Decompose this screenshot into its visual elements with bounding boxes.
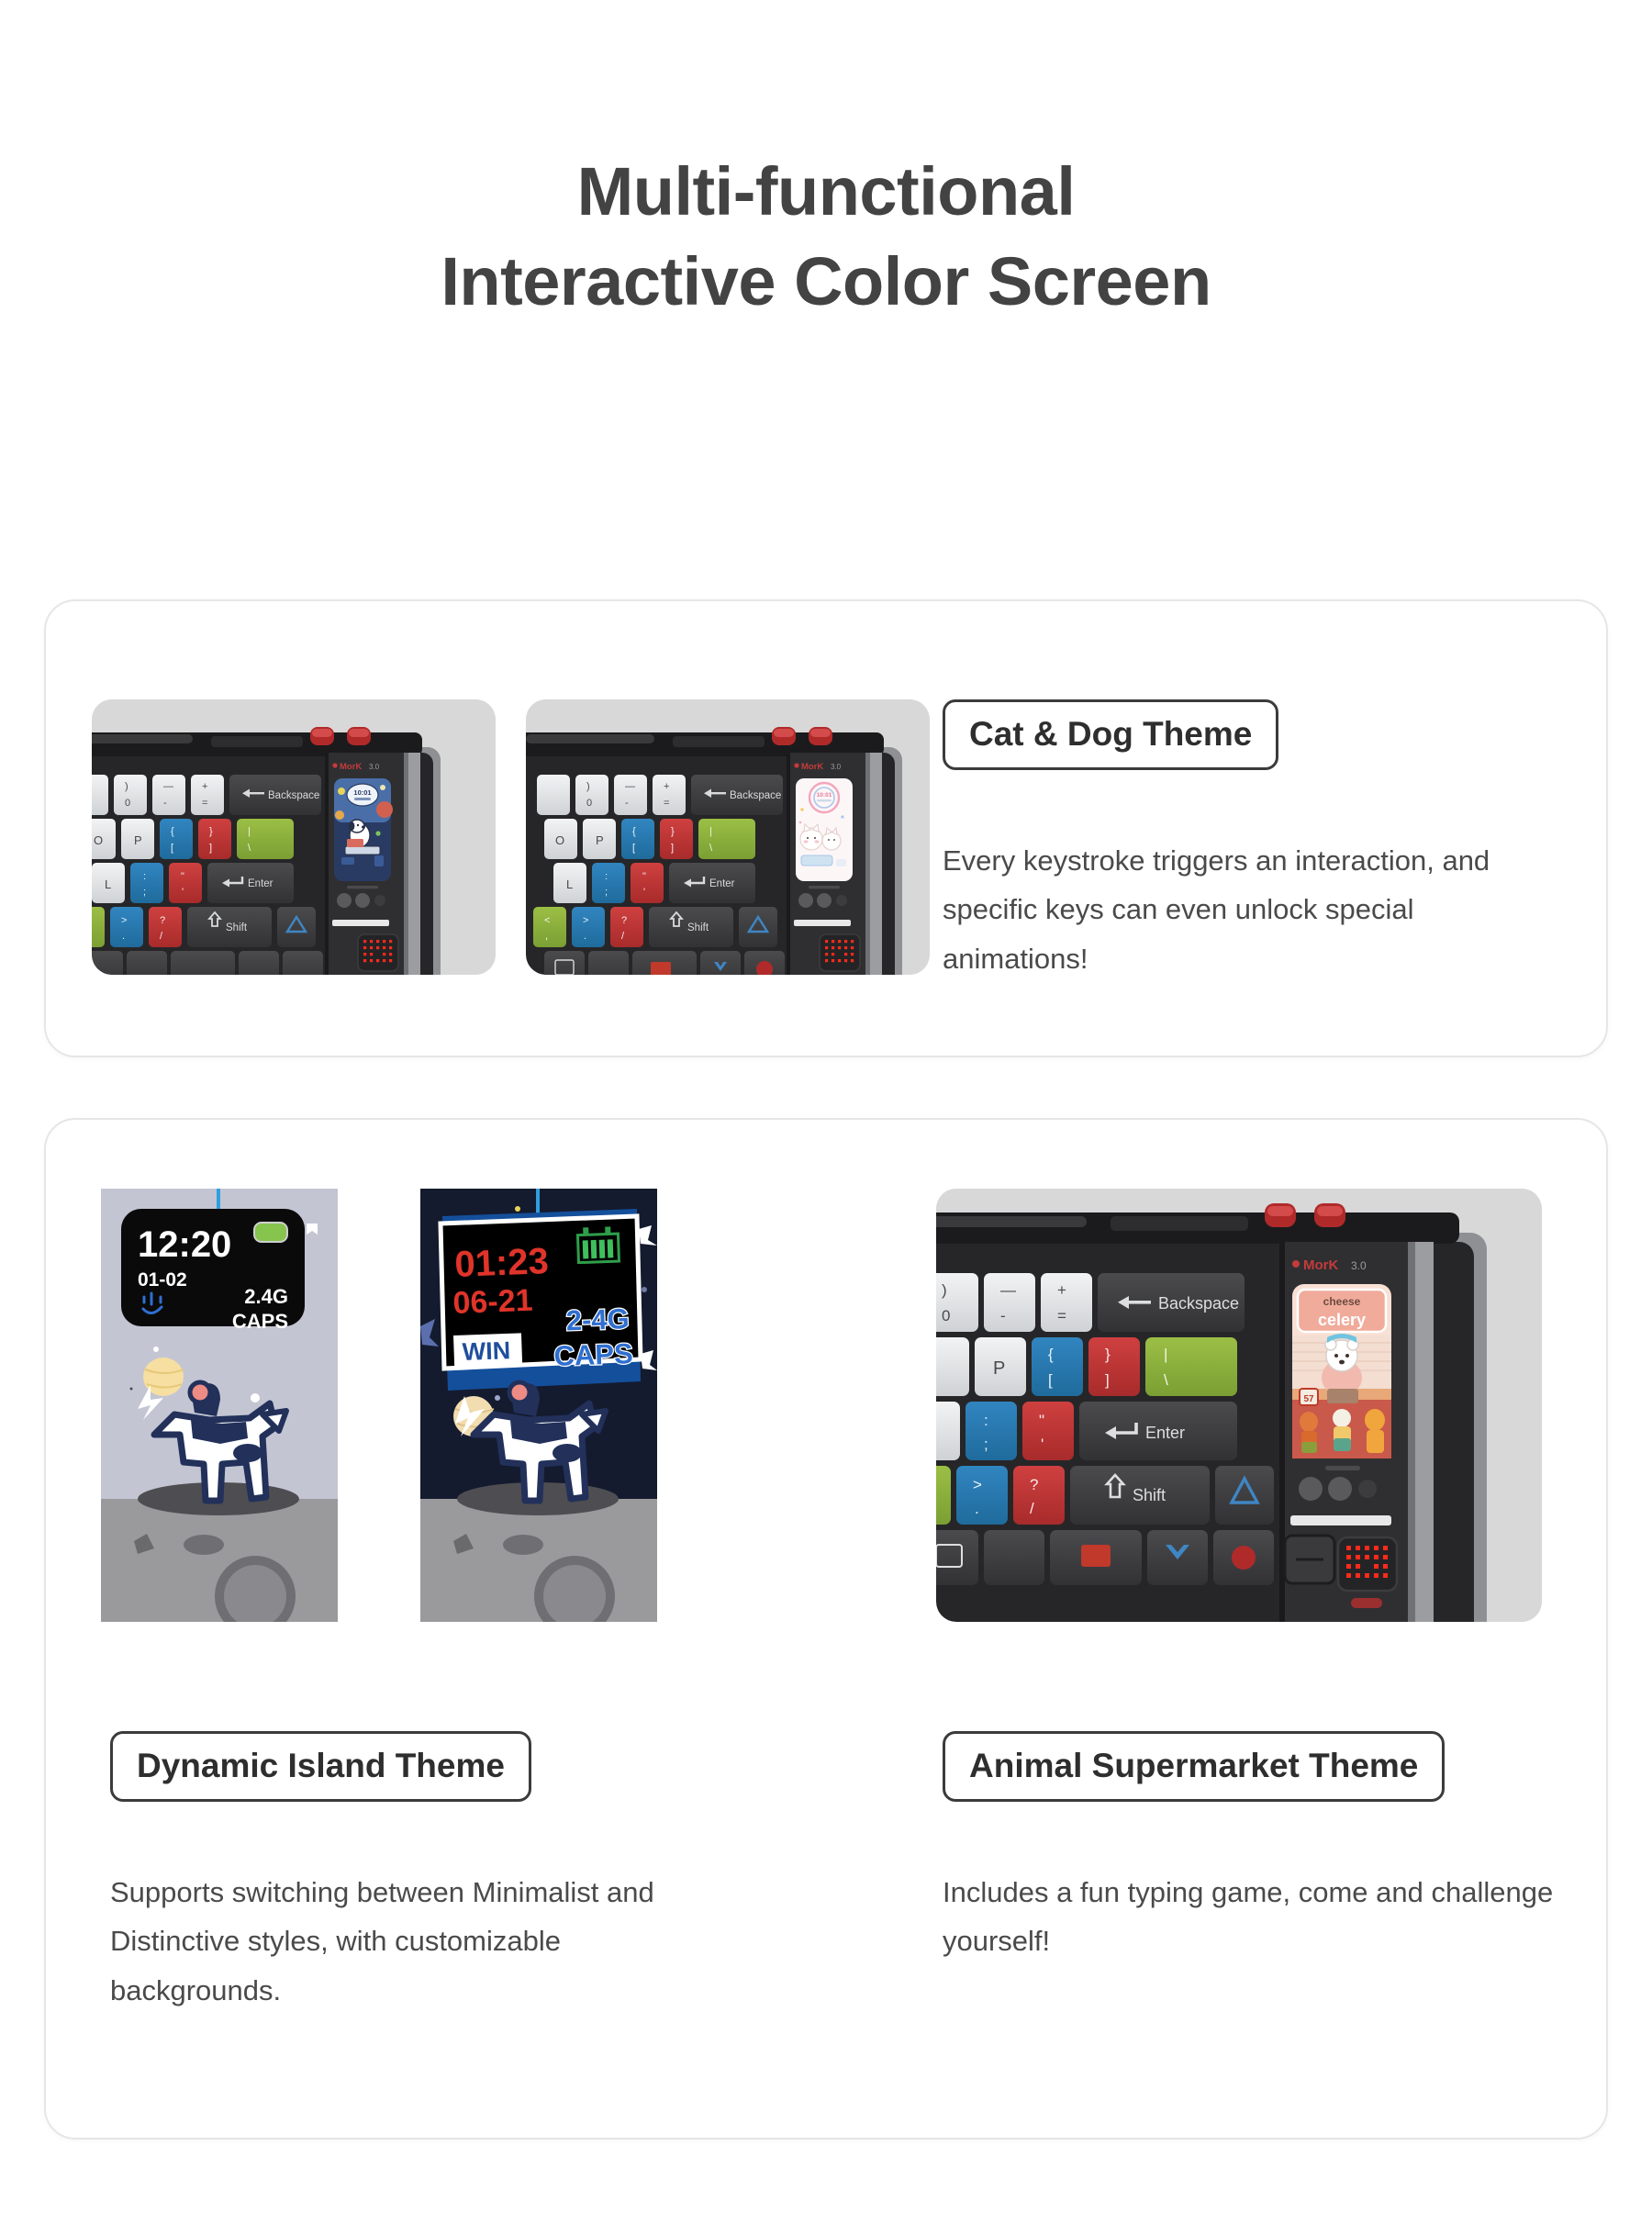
- svg-text:?: ?: [621, 915, 627, 926]
- keyboard-illustration-supermarket: ) 0 — - + = Backspace P {: [936, 1189, 1542, 1622]
- svg-text:+: +: [664, 781, 669, 792]
- svg-text:Backspace: Backspace: [1158, 1294, 1239, 1313]
- cat-dog-text-block: Cat & Dog Theme Every keystroke triggers…: [943, 699, 1512, 983]
- svg-text:': ': [643, 887, 645, 898]
- cat-dog-description: Every keystroke triggers an interaction,…: [943, 836, 1512, 983]
- keyboard-illustration-dog: ) 0 — - + = Backspace O: [92, 699, 496, 975]
- animal-supermarket-description: Includes a fun typing game, come and cha…: [943, 1868, 1585, 1966]
- svg-text:Backspace: Backspace: [730, 790, 781, 801]
- svg-text:P: P: [596, 833, 604, 847]
- svg-text:[: [: [632, 843, 635, 854]
- svg-text:MorK: MorK: [340, 762, 362, 772]
- pill-dynamic-island-theme[interactable]: Dynamic Island Theme: [110, 1731, 531, 1802]
- di-min-date: 01-02: [138, 1269, 187, 1291]
- svg-text:>: >: [583, 915, 588, 926]
- svg-text:MorK: MorK: [1303, 1257, 1338, 1273]
- svg-text:,: ,: [545, 931, 548, 942]
- svg-text:06-21: 06-21: [452, 1283, 533, 1321]
- svg-text:10:01: 10:01: [817, 792, 832, 799]
- svg-text:O: O: [94, 833, 103, 847]
- svg-text:CAPS: CAPS: [553, 1337, 633, 1372]
- svg-text:>: >: [973, 1476, 982, 1493]
- svg-text:2-4G: 2-4G: [565, 1302, 630, 1336]
- svg-text:.: .: [975, 1500, 979, 1517]
- svg-text:}: }: [1105, 1346, 1111, 1363]
- keyboard-illustration-cat: ) 0 — - + = Backspace O: [526, 699, 930, 975]
- svg-text:MorK: MorK: [801, 762, 823, 772]
- svg-text:[: [: [171, 843, 173, 854]
- svg-text:+: +: [202, 781, 207, 792]
- svg-text:0: 0: [942, 1307, 950, 1324]
- svg-text::: :: [143, 871, 146, 882]
- svg-text:Shift: Shift: [687, 922, 709, 933]
- di-min-caps: CAPS: [232, 1310, 288, 1333]
- dynamic-island-minimalist-screen[interactable]: 12:20 01-02 2.4G CAPS: [101, 1189, 338, 1622]
- svg-text:10:01: 10:01: [353, 788, 371, 797]
- svg-text:3.0: 3.0: [831, 763, 842, 771]
- svg-text:P: P: [134, 833, 142, 847]
- svg-text:O: O: [555, 833, 564, 847]
- distinctive-screen-illustration: 01:23 06-21 2-4G WIN CAPS: [420, 1189, 657, 1622]
- page-title: Multi-functional Interactive Color Scree…: [0, 147, 1652, 326]
- keyboard-photo-animal-supermarket[interactable]: ) 0 — - + = Backspace P {: [936, 1189, 1542, 1622]
- di-min-time: 12:20: [138, 1224, 231, 1265]
- page-title-line-1: Multi-functional: [0, 147, 1652, 237]
- supermarket-ticket-number: 57: [1303, 1394, 1314, 1404]
- svg-text:\: \: [1164, 1371, 1168, 1389]
- svg-text:?: ?: [160, 915, 165, 926]
- svg-text:}: }: [671, 826, 675, 837]
- svg-text:": ": [181, 871, 184, 882]
- svg-text:Shift: Shift: [226, 922, 248, 933]
- dynamic-island-text-block: Dynamic Island Theme Supports switching …: [110, 1731, 679, 2015]
- svg-text:01:23: 01:23: [454, 1241, 550, 1285]
- dynamic-island-description: Supports switching between Minimalist an…: [110, 1868, 679, 2015]
- svg-text:P: P: [993, 1358, 1005, 1379]
- svg-text:0: 0: [125, 798, 130, 809]
- svg-text:]: ]: [1105, 1371, 1110, 1389]
- svg-text:Enter: Enter: [248, 878, 273, 889]
- page-title-line-2: Interactive Color Screen: [0, 237, 1652, 327]
- svg-text:=: =: [1057, 1307, 1066, 1324]
- svg-text:—: —: [1000, 1281, 1016, 1299]
- product-feature-page: Multi-functional Interactive Color Scree…: [0, 0, 1652, 2235]
- keyboard-photo-cat-theme[interactable]: ) 0 — - + = Backspace O: [526, 699, 930, 975]
- svg-text:;: ;: [605, 887, 608, 898]
- animal-supermarket-text-block: Animal Supermarket Theme Includes a fun …: [943, 1731, 1585, 1966]
- svg-text:}: }: [209, 826, 213, 837]
- supermarket-word-small: cheese: [1323, 1295, 1361, 1308]
- svg-text::: :: [984, 1412, 988, 1429]
- svg-text:{: {: [171, 826, 174, 837]
- svg-text:): ): [942, 1281, 947, 1299]
- svg-text:<: <: [544, 915, 550, 926]
- svg-text:3.0: 3.0: [369, 763, 380, 771]
- svg-text:—: —: [625, 781, 635, 792]
- svg-text:': ': [182, 887, 184, 898]
- svg-text:?: ?: [1030, 1476, 1038, 1493]
- pill-cat-dog-theme[interactable]: Cat & Dog Theme: [943, 699, 1278, 770]
- svg-text:): ): [586, 781, 590, 792]
- svg-text:—: —: [163, 781, 173, 792]
- svg-text:;: ;: [984, 1436, 988, 1453]
- svg-text:=: =: [664, 798, 669, 809]
- svg-text::: :: [605, 871, 608, 882]
- di-min-signal: 2.4G: [244, 1285, 288, 1308]
- dynamic-island-distinctive-screen[interactable]: 01:23 06-21 2-4G WIN CAPS: [420, 1189, 657, 1622]
- svg-text:Enter: Enter: [709, 878, 735, 889]
- svg-text:.: .: [122, 931, 125, 942]
- svg-text:|: |: [709, 826, 712, 837]
- svg-text:WIN: WIN: [462, 1336, 510, 1366]
- svg-text:|: |: [248, 826, 251, 837]
- svg-text:L: L: [105, 877, 111, 891]
- svg-text:Enter: Enter: [1145, 1424, 1185, 1442]
- svg-text:/: /: [1030, 1500, 1034, 1517]
- svg-text:": ": [1039, 1412, 1044, 1429]
- minimalist-screen-illustration: 12:20 01-02 2.4G CAPS: [101, 1189, 338, 1622]
- svg-text:]: ]: [209, 843, 212, 854]
- svg-text:.: .: [584, 931, 586, 942]
- svg-text:[: [: [1048, 1371, 1053, 1389]
- svg-text:': ': [1041, 1436, 1044, 1453]
- dynamic-island-screenshot-group: 12:20 01-02 2.4G CAPS: [101, 1189, 657, 1622]
- svg-text:]: ]: [671, 843, 674, 854]
- svg-text:Shift: Shift: [1133, 1486, 1166, 1504]
- svg-text:L: L: [566, 877, 573, 891]
- svg-text:>: >: [121, 915, 127, 926]
- svg-text:+: +: [1057, 1281, 1066, 1299]
- svg-text:-: -: [1000, 1307, 1006, 1324]
- svg-text:{: {: [1048, 1346, 1054, 1363]
- svg-text:{: {: [632, 826, 636, 837]
- svg-text:0: 0: [586, 798, 592, 809]
- svg-text:=: =: [202, 798, 207, 809]
- cat-dog-screenshot-group: ) 0 — - + = Backspace O: [92, 699, 930, 975]
- supermarket-word-large: celery: [1318, 1311, 1366, 1329]
- svg-text:;: ;: [143, 887, 146, 898]
- svg-text:": ": [642, 871, 646, 882]
- pill-animal-supermarket-theme[interactable]: Animal Supermarket Theme: [943, 1731, 1445, 1802]
- svg-text:): ): [125, 781, 128, 792]
- keyboard-photo-dog-theme[interactable]: ) 0 — - + = Backspace O: [92, 699, 496, 975]
- svg-text:|: |: [1164, 1346, 1167, 1363]
- svg-text:-: -: [163, 798, 167, 809]
- svg-text:-: -: [625, 798, 629, 809]
- svg-text:3.0: 3.0: [1351, 1259, 1367, 1272]
- svg-text:Backspace: Backspace: [268, 790, 319, 801]
